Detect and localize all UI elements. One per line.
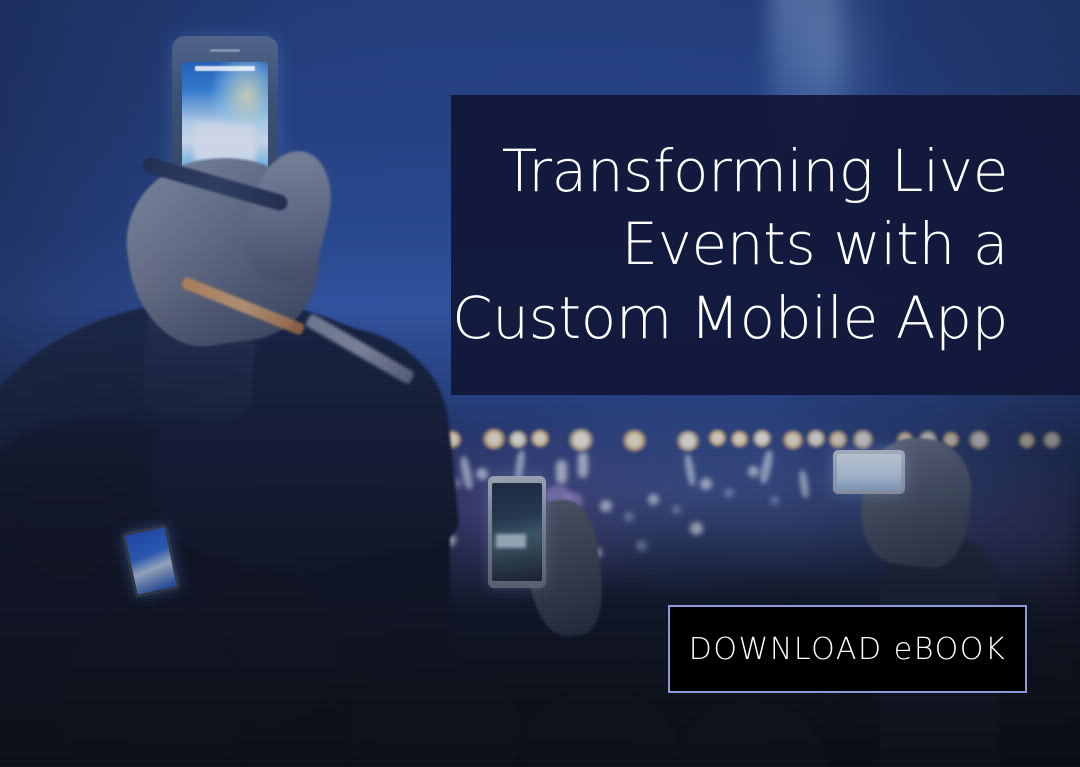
hero-banner: Transforming Live Events with a Custom M… — [0, 0, 1080, 767]
phone-screen-statusbar — [195, 66, 254, 71]
headline-panel: Transforming Live Events with a Custom M… — [451, 95, 1080, 395]
download-ebook-button-label: DOWNLOAD eBOOK — [689, 632, 1007, 667]
download-ebook-button[interactable]: DOWNLOAD eBOOK — [668, 605, 1027, 693]
headline-line-2: Events with a — [452, 208, 1008, 281]
page-title: Transforming Live Events with a Custom M… — [452, 135, 1008, 354]
headline-line-3: Custom Mobile App — [452, 282, 1008, 355]
headline-line-1: Transforming Live — [452, 135, 1008, 208]
